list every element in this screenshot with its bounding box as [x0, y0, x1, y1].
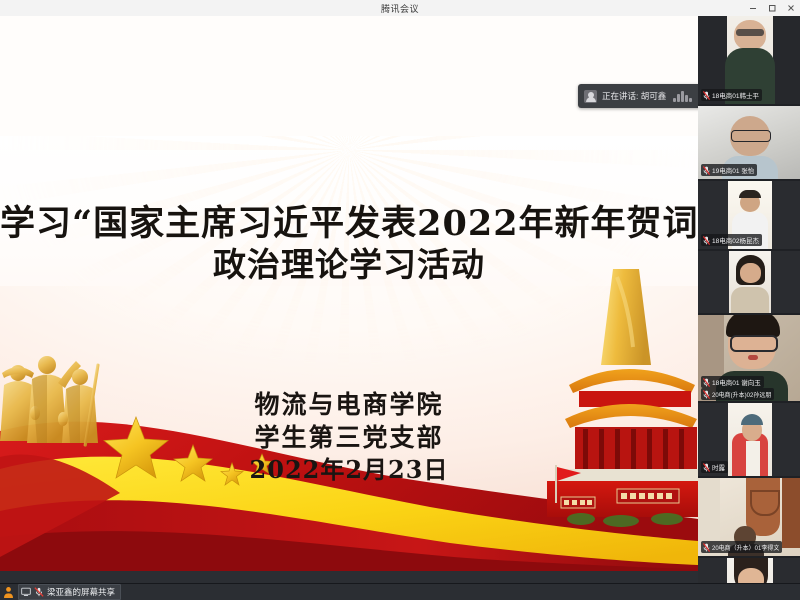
mic-muted-icon: [703, 166, 710, 175]
slide-title-line-2: 政治理论学习活动: [0, 247, 698, 284]
participant-tile[interactable]: 18电商02杨昆杰: [698, 179, 800, 249]
slide-org-line-2: 学生第三党支部: [0, 421, 698, 454]
participant-tile[interactable]: 时露: [698, 401, 800, 476]
slide-date: 2022年2月23日: [0, 454, 698, 486]
close-button[interactable]: [786, 3, 796, 13]
participant-name: 20电商（升本）01李得文: [712, 543, 779, 552]
maximize-button[interactable]: [767, 3, 777, 13]
mic-muted-icon: [703, 463, 710, 472]
slide-org-line-1: 物流与电商学院: [0, 388, 698, 421]
participant-name-tag: 18电商01 谢向玉: [701, 376, 764, 388]
participant-tile[interactable]: 18电商01 谢向玉 20电商(升本)02孙远朋: [698, 313, 800, 401]
slide-title: 学习“国家主席习近平发表2022年新年贺词” 政治理论学习活动: [0, 204, 698, 284]
presentation-slide: 学习“国家主席习近平发表2022年新年贺词” 政治理论学习活动 物流与电商学院 …: [0, 136, 698, 571]
shared-screen-area[interactable]: 学习“国家主席习近平发表2022年新年贺词” 政治理论学习活动 物流与电商学院 …: [0, 16, 698, 571]
title-bar: 腾讯会议: [0, 0, 800, 17]
participant-name-tag: 时露: [701, 461, 728, 473]
mic-muted-icon: [703, 236, 710, 245]
minimize-button[interactable]: [748, 3, 758, 13]
user-icon: [3, 586, 14, 598]
mic-muted-icon: [34, 587, 44, 597]
slide-subtitle-block: 物流与电商学院 学生第三党支部 2022年2月23日: [0, 388, 698, 486]
tencent-meeting-window: 腾讯会议: [0, 0, 800, 600]
participant-tile[interactable]: 18电商01梁燕燕: [698, 556, 800, 584]
mic-muted-icon: [703, 91, 710, 100]
participant-name: 18电商02杨昆杰: [712, 235, 759, 245]
taskbar-share-item[interactable]: 梁亚鑫的屏幕共享: [18, 584, 121, 600]
participant-name: 18电商01韩士平: [712, 90, 759, 100]
mic-muted-icon: [703, 543, 710, 552]
participant-name: 18电商01 谢向玉: [712, 377, 761, 387]
participant-tile[interactable]: 20电商（升本）01李得文: [698, 476, 800, 556]
taskbar[interactable]: 梁亚鑫的屏幕共享: [0, 583, 800, 600]
participant-video: [698, 558, 800, 584]
participant-tile[interactable]: 18电商01韩士平: [698, 16, 800, 104]
mic-muted-icon: [703, 378, 710, 387]
taskbar-share-label: 梁亚鑫的屏幕共享: [47, 586, 115, 598]
speaker-avatar-icon: [584, 90, 597, 103]
participant-name-tag: 19电商01 张怡: [701, 164, 757, 176]
participants-rail[interactable]: 18电商01韩士平 19电商01 张怡: [698, 16, 800, 584]
audio-level-icon: [671, 91, 694, 102]
participant-name-tag: 18电商01韩士平: [701, 89, 762, 101]
participant-name: 19电商01 张怡: [712, 165, 754, 175]
participant-tile[interactable]: [698, 249, 800, 313]
participant-name-tag: 20电商（升本）01李得文: [701, 541, 782, 553]
participant-tile[interactable]: 19电商01 张怡: [698, 104, 800, 179]
participant-name: 时露: [712, 462, 725, 472]
participant-name-secondary: 20电商(升本)02孙远朋: [712, 390, 771, 399]
participant-name-tag-secondary: 20电商(升本)02孙远朋: [701, 388, 774, 400]
participant-name-tag: 18电商02杨昆杰: [701, 234, 762, 246]
participant-video: [698, 251, 800, 313]
active-speaker-label: 正在讲话: 胡可鑫: [602, 90, 666, 102]
slide-title-line-1: 学习“国家主席习近平发表2022年新年贺词”: [0, 204, 698, 243]
monitor-icon: [21, 587, 31, 597]
window-controls: [748, 0, 796, 16]
active-speaker-pill[interactable]: 正在讲话: 胡可鑫 ↰: [578, 84, 698, 108]
window-title: 腾讯会议: [381, 2, 419, 15]
mic-muted-icon: [703, 390, 710, 399]
